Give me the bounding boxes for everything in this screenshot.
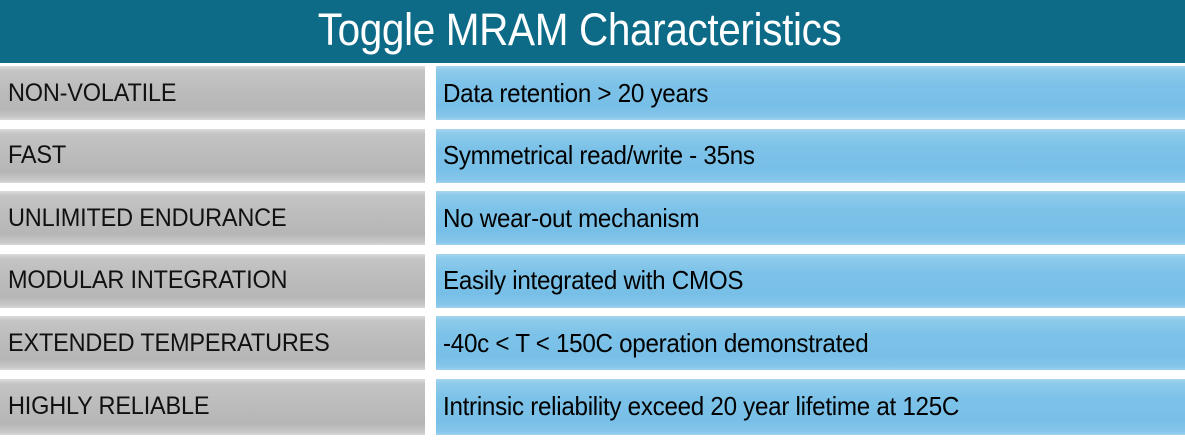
characteristic-label: MODULAR INTEGRATION (8, 266, 287, 295)
description-cell: -40c < T < 150C operation demonstrated (436, 316, 1185, 370)
characteristic-label: EXTENDED TEMPERATURES (8, 329, 330, 358)
table-row: FAST Symmetrical read/write - 35ns (0, 126, 1185, 189)
characteristic-cell: FAST (0, 129, 425, 183)
characteristic-cell: UNLIMITED ENDURANCE (0, 191, 425, 245)
table-row: MODULAR INTEGRATION Easily integrated wi… (0, 251, 1185, 314)
characteristic-cell: NON-VOLATILE (0, 66, 425, 120)
description-text: -40c < T < 150C operation demonstrated (443, 328, 868, 359)
description-text: Intrinsic reliability exceed 20 year lif… (443, 391, 959, 422)
description-cell: No wear-out mechanism (436, 191, 1185, 245)
description-text: Easily integrated with CMOS (443, 265, 743, 296)
table-row: UNLIMITED ENDURANCE No wear-out mechanis… (0, 188, 1185, 251)
characteristic-cell: MODULAR INTEGRATION (0, 254, 425, 308)
description-cell: Data retention > 20 years (436, 66, 1185, 120)
table-row: EXTENDED TEMPERATURES -40c < T < 150C op… (0, 313, 1185, 376)
characteristic-label: UNLIMITED ENDURANCE (8, 204, 286, 233)
description-text: Symmetrical read/write - 35ns (443, 140, 755, 171)
page-title: Toggle MRAM Characteristics (46, 0, 1113, 63)
characteristics-table: NON-VOLATILE Data retention > 20 years F… (0, 63, 1185, 440)
characteristic-cell: HIGHLY RELIABLE (0, 379, 425, 435)
table-row: HIGHLY RELIABLE Intrinsic reliability ex… (0, 376, 1185, 439)
characteristic-label: HIGHLY RELIABLE (8, 392, 209, 421)
description-text: Data retention > 20 years (443, 78, 708, 109)
slide-header-band: Toggle MRAM Characteristics (0, 0, 1185, 63)
characteristic-cell: EXTENDED TEMPERATURES (0, 316, 425, 370)
characteristic-label: NON-VOLATILE (8, 79, 176, 108)
description-cell: Symmetrical read/write - 35ns (436, 129, 1185, 183)
table-row: NON-VOLATILE Data retention > 20 years (0, 63, 1185, 126)
description-text: No wear-out mechanism (443, 203, 699, 234)
mram-characteristics-slide: Toggle MRAM Characteristics NON-VOLATILE… (0, 0, 1185, 440)
description-cell: Easily integrated with CMOS (436, 254, 1185, 308)
description-cell: Intrinsic reliability exceed 20 year lif… (436, 379, 1185, 435)
characteristic-label: FAST (8, 141, 66, 170)
